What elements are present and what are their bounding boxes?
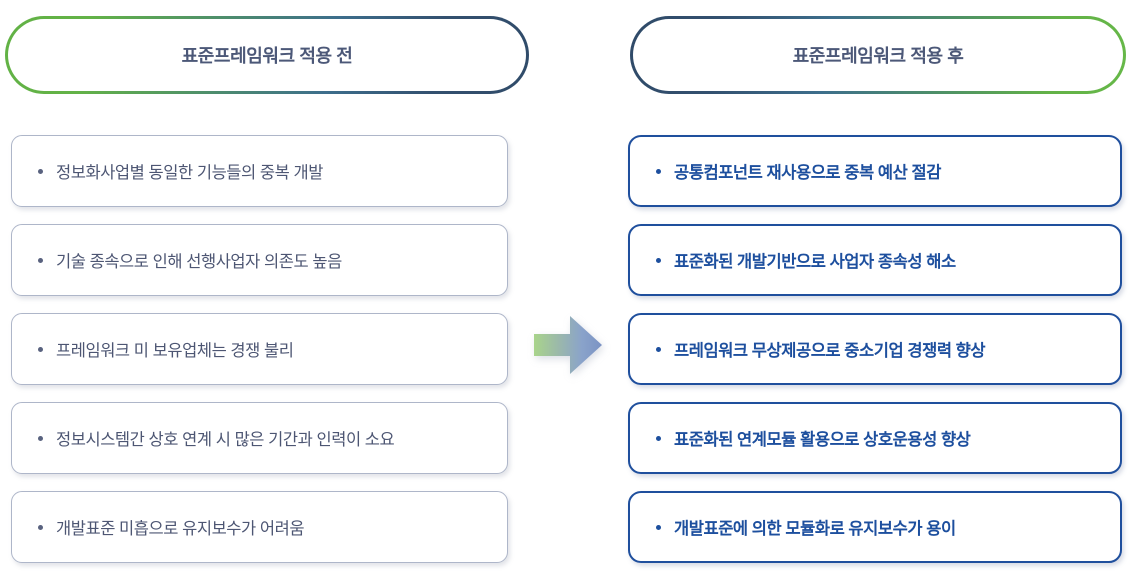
bullet-icon [656, 436, 661, 441]
header-pill-after-inner: 표준프레임워크 적용 후 [633, 19, 1123, 91]
after-list: 공통컴포넌트 재사용으로 중복 예산 절감 표준화된 개발기반으로 사업자 종속… [628, 135, 1122, 563]
bullet-icon [38, 347, 43, 352]
list-item: 기술 종속으로 인해 선행사업자 의존도 높음 [11, 224, 508, 296]
list-item-label: 공통컴포넌트 재사용으로 중복 예산 절감 [674, 159, 941, 183]
bullet-icon [38, 258, 43, 263]
bullet-icon [656, 347, 661, 352]
bullet-icon [656, 258, 661, 263]
header-pill-after: 표준프레임워크 적용 후 [630, 16, 1126, 94]
list-item: 공통컴포넌트 재사용으로 중복 예산 절감 [628, 135, 1122, 207]
comparison-diagram: 표준프레임워크 적용 전 표준프레임워크 적용 후 정보화사업별 동일한 기능들… [0, 0, 1135, 571]
bullet-icon [38, 169, 43, 174]
list-item-label: 프레임워크 미 보유업체는 경쟁 불리 [56, 337, 294, 361]
before-list: 정보화사업별 동일한 기능들의 중복 개발 기술 종속으로 인해 선행사업자 의… [11, 135, 508, 563]
header-label-before: 표준프레임워크 적용 전 [182, 42, 353, 68]
list-item: 개발표준에 의한 모듈화로 유지보수가 용이 [628, 491, 1122, 563]
bullet-icon [38, 525, 43, 530]
list-item-label: 표준화된 연계모듈 활용으로 상호운용성 향상 [674, 426, 970, 450]
bullet-icon [656, 525, 661, 530]
list-item-label: 개발표준 미흡으로 유지보수가 어려움 [56, 515, 304, 539]
list-item-label: 정보시스템간 상호 연계 시 많은 기간과 인력이 소요 [56, 426, 394, 450]
list-item: 표준화된 개발기반으로 사업자 종속성 해소 [628, 224, 1122, 296]
right-arrow-icon [534, 314, 602, 376]
header-label-after: 표준프레임워크 적용 후 [793, 42, 964, 68]
bullet-icon [656, 169, 661, 174]
list-item-label: 정보화사업별 동일한 기능들의 중복 개발 [56, 159, 323, 183]
bullet-icon [38, 436, 43, 441]
list-item: 개발표준 미흡으로 유지보수가 어려움 [11, 491, 508, 563]
list-item: 표준화된 연계모듈 활용으로 상호운용성 향상 [628, 402, 1122, 474]
list-item-label: 기술 종속으로 인해 선행사업자 의존도 높음 [56, 248, 342, 272]
list-item-label: 개발표준에 의한 모듈화로 유지보수가 용이 [674, 515, 956, 539]
list-item: 프레임워크 미 보유업체는 경쟁 불리 [11, 313, 508, 385]
list-item: 정보화사업별 동일한 기능들의 중복 개발 [11, 135, 508, 207]
list-item-label: 표준화된 개발기반으로 사업자 종속성 해소 [674, 248, 956, 272]
header-pill-before-inner: 표준프레임워크 적용 전 [8, 19, 526, 91]
list-item: 프레임워크 무상제공으로 중소기업 경쟁력 향상 [628, 313, 1122, 385]
list-item: 정보시스템간 상호 연계 시 많은 기간과 인력이 소요 [11, 402, 508, 474]
header-pill-before: 표준프레임워크 적용 전 [5, 16, 529, 94]
list-item-label: 프레임워크 무상제공으로 중소기업 경쟁력 향상 [674, 337, 985, 361]
